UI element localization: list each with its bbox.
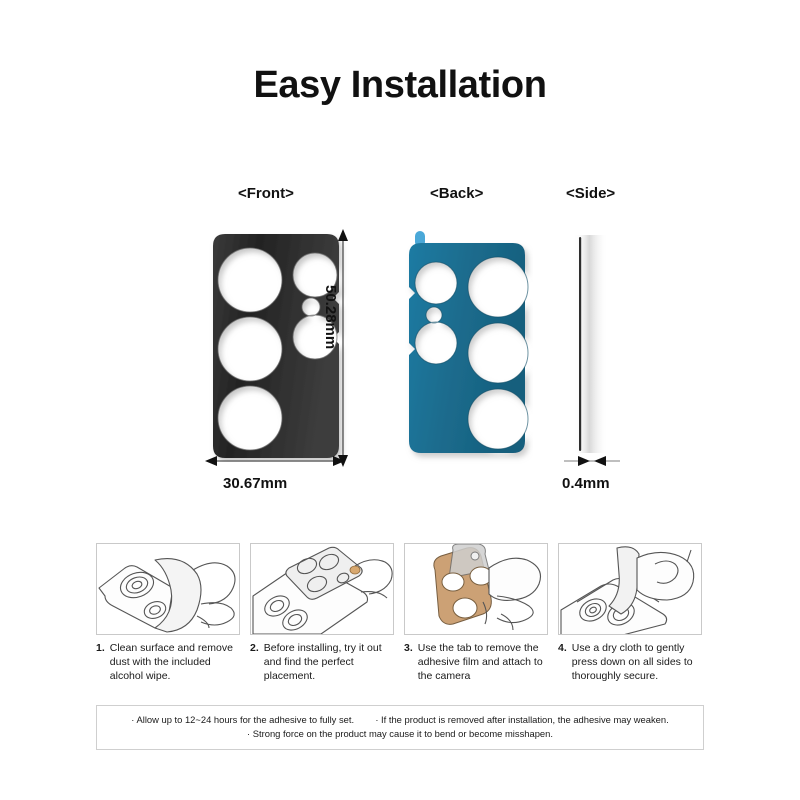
- back-view-plate: [403, 227, 533, 472]
- footer-note-adhesive-set: · Allow up to 12~24 hours for the adhesi…: [131, 714, 354, 725]
- installation-steps: 1. Clean surface and remove dust with th…: [96, 543, 704, 684]
- side-view-label: <Side>: [566, 185, 615, 202]
- step-4-number: 4.: [558, 642, 567, 684]
- step-3-number: 3.: [404, 642, 413, 684]
- step-4-text: 4. Use a dry cloth to gently press down …: [558, 642, 704, 684]
- front-plate-body: [213, 234, 339, 458]
- step-4-figure: [558, 543, 702, 635]
- step-2-number: 2.: [250, 642, 259, 684]
- height-dimension-label: 50.28mm: [322, 285, 339, 349]
- step-1: 1. Clean surface and remove dust with th…: [96, 543, 242, 684]
- thickness-dimension-line: [562, 453, 622, 469]
- product-diagram: <Front> <Back> <Side>: [0, 185, 800, 505]
- thickness-dimension-label: 0.4mm: [562, 475, 610, 492]
- step-2-figure: [250, 543, 394, 635]
- back-view-label: <Back>: [430, 185, 483, 202]
- footer-note-line-2: · Strong force on the product may cause …: [107, 727, 693, 741]
- step-2-label: Before installing, try it out and find t…: [264, 642, 396, 684]
- front-view-label: <Front>: [238, 185, 294, 202]
- step-1-number: 1.: [96, 642, 105, 684]
- step-3-figure: [404, 543, 548, 635]
- width-dimension-line: [205, 453, 345, 469]
- step-1-label: Clean surface and remove dust with the i…: [110, 642, 242, 684]
- side-profile-edge: [579, 237, 581, 451]
- step-3-text: 3. Use the tab to remove the adhesive fi…: [404, 642, 550, 684]
- step-4: 4. Use a dry cloth to gently press down …: [558, 543, 704, 684]
- side-view-plate: [560, 225, 630, 470]
- footer-note-removal-warning: · If the product is removed after instal…: [375, 714, 668, 725]
- step-3: 3. Use the tab to remove the adhesive fi…: [404, 543, 550, 684]
- step-1-text: 1. Clean surface and remove dust with th…: [96, 642, 242, 684]
- step-4-label: Use a dry cloth to gently press down on …: [572, 642, 704, 684]
- footer-notes: · Allow up to 12~24 hours for the adhesi…: [96, 705, 704, 750]
- step-2-text: 2. Before installing, try it out and fin…: [250, 642, 396, 684]
- step-1-figure: [96, 543, 240, 635]
- back-plate-body: [409, 243, 525, 453]
- footer-note-line-1: · Allow up to 12~24 hours for the adhesi…: [107, 713, 693, 727]
- step-3-label: Use the tab to remove the adhesive film …: [418, 642, 550, 684]
- step-2: 2. Before installing, try it out and fin…: [250, 543, 396, 684]
- page-title: Easy Installation: [0, 64, 800, 107]
- width-dimension-label: 30.67mm: [223, 475, 287, 492]
